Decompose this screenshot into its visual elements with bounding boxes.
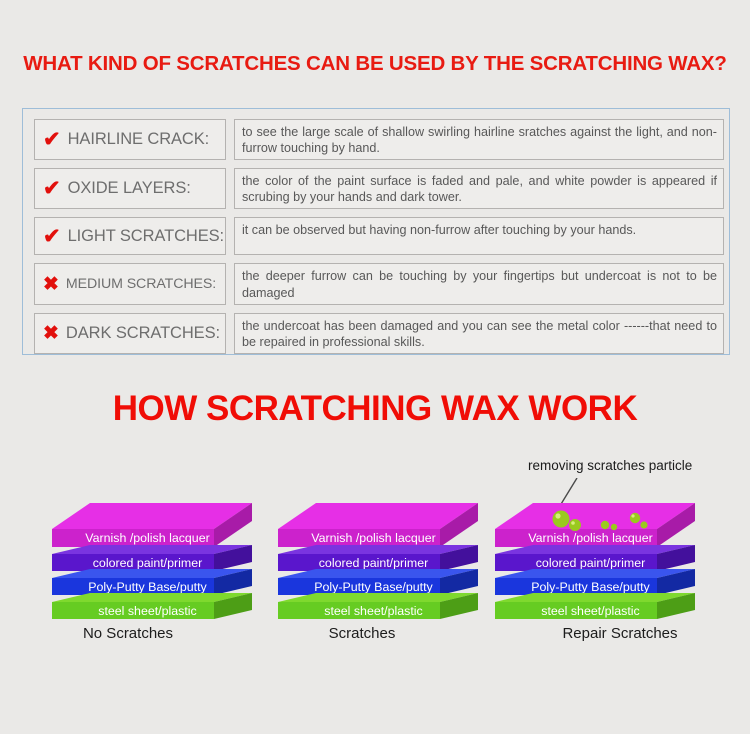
table-row: ✖ DARK SCRATCHES: the undercoat has been… xyxy=(34,313,724,354)
check-mark-icon: ✔ xyxy=(43,129,61,150)
check-mark-icon: ✔ xyxy=(43,226,61,247)
scratch-type-label: DARK SCRATCHES: xyxy=(66,324,220,343)
scratch-type-label: MEDIUM SCRATCHES: xyxy=(66,276,216,292)
scratch-type-cell: ✔ HAIRLINE CRACK: xyxy=(34,119,226,160)
diagram-caption: Scratches xyxy=(252,625,472,642)
scratch-description: to see the large scale of shallow swirli… xyxy=(234,119,724,160)
diagram-caption: No Scratches xyxy=(18,625,238,642)
section-title-how-it-works: HOW SCRATCHING WAX WORK xyxy=(0,389,750,429)
scratch-description: the color of the paint surface is faded … xyxy=(234,168,724,209)
layer-diagram-scratches: Varnish /polish lacquer colored paint/pr… xyxy=(278,503,478,633)
table-row: ✔ LIGHT SCRATCHES: it can be observed bu… xyxy=(34,217,724,255)
table-row: ✔ OXIDE LAYERS: the color of the paint s… xyxy=(34,168,724,209)
scratch-type-label: LIGHT SCRATCHES: xyxy=(68,227,224,246)
cross-mark-icon: ✖ xyxy=(43,275,59,294)
table-row: ✖ MEDIUM SCRATCHES: the deeper furrow ca… xyxy=(34,263,724,304)
diagram-caption: Repair Scratches xyxy=(510,625,730,642)
scratch-type-label: OXIDE LAYERS: xyxy=(68,179,191,198)
scratch-type-label: HAIRLINE CRACK: xyxy=(68,130,210,149)
page-title: WHAT KIND OF SCRATCHES CAN BE USED BY TH… xyxy=(0,52,750,76)
layer-diagram-no-scratches: Varnish /polish lacquer colored paint/pr… xyxy=(52,503,252,633)
check-mark-icon: ✔ xyxy=(43,178,61,199)
scratch-type-cell: ✔ OXIDE LAYERS: xyxy=(34,168,226,209)
scratch-type-cell: ✔ LIGHT SCRATCHES: xyxy=(34,217,226,255)
layer-diagram-repair-scratches: Varnish /polish lacquer colored paint/pr… xyxy=(495,503,695,633)
scratch-description: it can be observed but having non-furrow… xyxy=(234,217,724,255)
scratch-type-cell: ✖ MEDIUM SCRATCHES: xyxy=(34,263,226,304)
cross-mark-icon: ✖ xyxy=(43,324,59,343)
scratch-type-cell: ✖ DARK SCRATCHES: xyxy=(34,313,226,354)
table-row: ✔ HAIRLINE CRACK: to see the large scale… xyxy=(34,119,724,160)
annotation-label: removing scratches particle xyxy=(528,458,692,473)
scratch-description: the undercoat has been damaged and you c… xyxy=(234,313,724,354)
scratch-description: the deeper furrow can be touching by you… xyxy=(234,263,724,304)
scratch-particles-icon xyxy=(495,499,695,543)
scratch-table: ✔ HAIRLINE CRACK: to see the large scale… xyxy=(34,119,724,362)
